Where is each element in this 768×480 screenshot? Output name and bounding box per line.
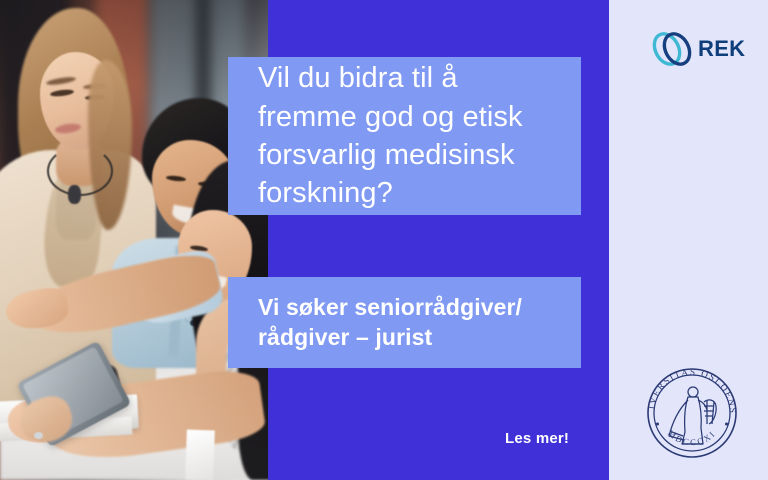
headline-box: Vil du bidra til å fremme god og etisk f… <box>228 57 581 215</box>
uio-seal[interactable]: UNIVERSITAS OSLOENSIS MDCCCXI <box>641 362 743 464</box>
headline-text: Vil du bidra til å fremme god og etisk f… <box>258 59 551 212</box>
rek-wordmark: REK <box>698 38 745 60</box>
photo-paper <box>185 430 215 480</box>
recruitment-banner: Vil du bidra til å fremme god og etisk f… <box>0 0 768 480</box>
rek-logo[interactable]: REK <box>648 26 748 72</box>
photo-woman-pendant <box>68 185 81 204</box>
rek-rings-icon <box>648 27 694 71</box>
photo-woman-ring <box>34 432 43 439</box>
job-title-text: Vi søker seniorrådgiver/ rådgiver – juri… <box>258 293 551 353</box>
read-more-link[interactable]: Les mer! <box>505 430 569 447</box>
job-title-box: Vi søker seniorrådgiver/ rådgiver – juri… <box>228 277 581 368</box>
